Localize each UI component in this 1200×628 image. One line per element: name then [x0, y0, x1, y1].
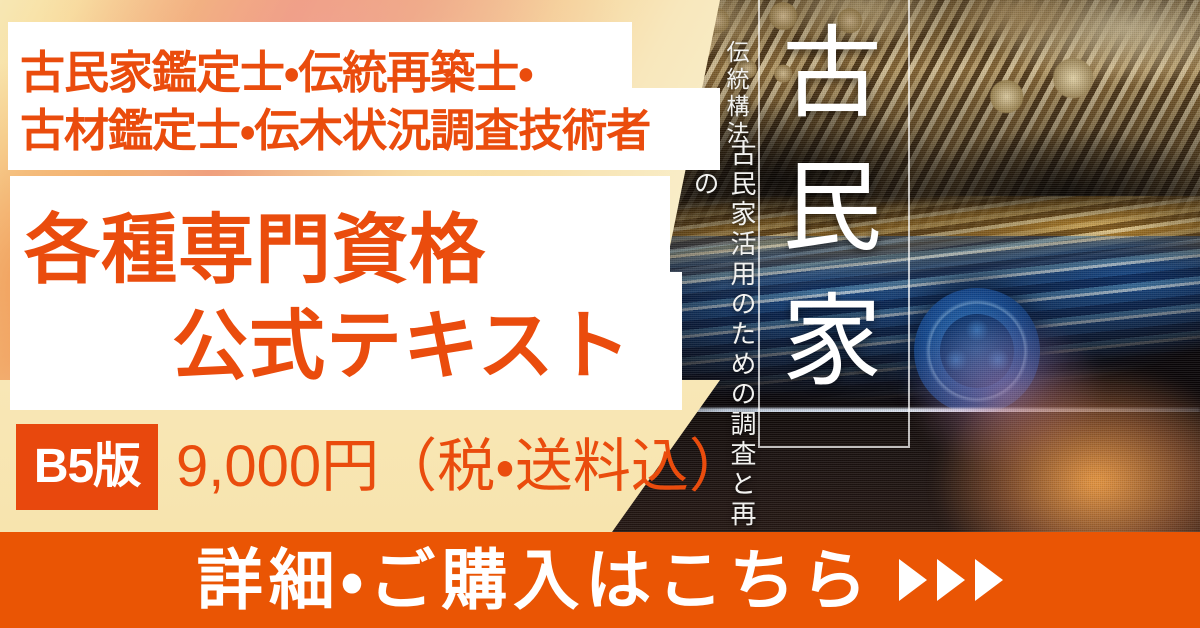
headline-line-1: 古民家鑑定士・伝統再築士・	[20, 36, 533, 101]
cta-arrows	[899, 559, 1003, 601]
promo-banner[interactable]: 古民家 伝統構法 古民家活用のための調査と再生の 古民家鑑定士・伝統再築士・ 古…	[0, 0, 1200, 628]
headline-line-2: 古材鑑定士・伝木状況調査技術者	[20, 94, 650, 159]
price-text: 9,000円（税・送料込）	[176, 428, 747, 506]
cta-label: 詳細・ご購入はこちら	[197, 547, 873, 613]
title-line-2: 公式テキスト	[172, 284, 632, 394]
cover-title: 古民家	[764, 8, 900, 410]
triangle-right-icon	[937, 559, 965, 601]
title-line-1: 各種専門資格	[24, 188, 486, 298]
triangle-right-icon	[899, 559, 927, 601]
cta-bar[interactable]: 詳細・ご購入はこちら	[0, 532, 1200, 628]
format-badge: B5版	[16, 424, 158, 510]
cover-subtitle-right: 伝統構法	[718, 40, 752, 148]
triangle-right-icon	[975, 559, 1003, 601]
